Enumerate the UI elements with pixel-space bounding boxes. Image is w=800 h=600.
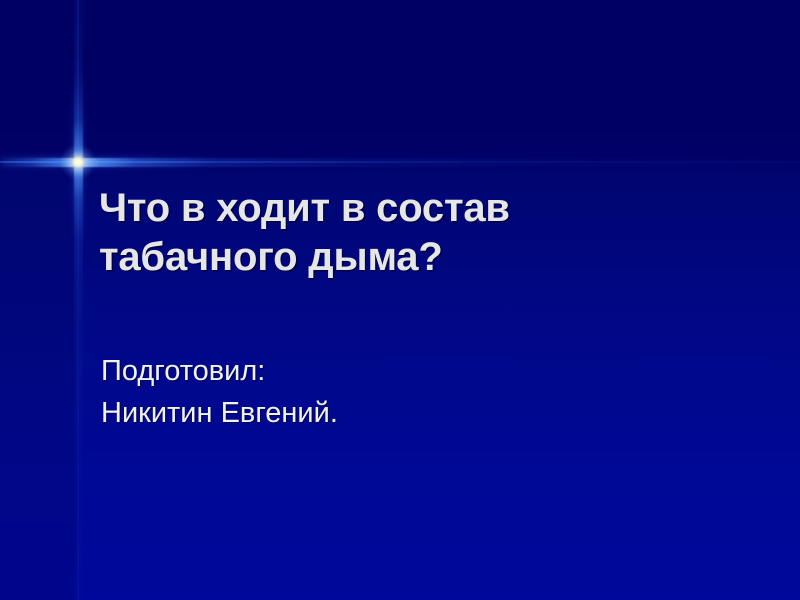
title-line-1: Что в ходит в состав [99, 184, 709, 233]
slide-title: Что в ходит в состав табачного дыма? [99, 184, 709, 282]
subtitle-line-2: Никитин Евгений. [101, 392, 711, 434]
slide-background-gradient [0, 0, 800, 600]
presentation-slide: Что в ходит в состав табачного дыма? Под… [0, 0, 800, 600]
title-line-2: табачного дыма? [99, 233, 709, 282]
star-horizontal-ray [0, 158, 800, 167]
slide-subtitle: Подготовил: Никитин Евгений. [101, 350, 711, 434]
star-vertical-ray [74, 0, 83, 600]
subtitle-line-1: Подготовил: [101, 350, 711, 392]
star-core-highlight [73, 157, 83, 167]
